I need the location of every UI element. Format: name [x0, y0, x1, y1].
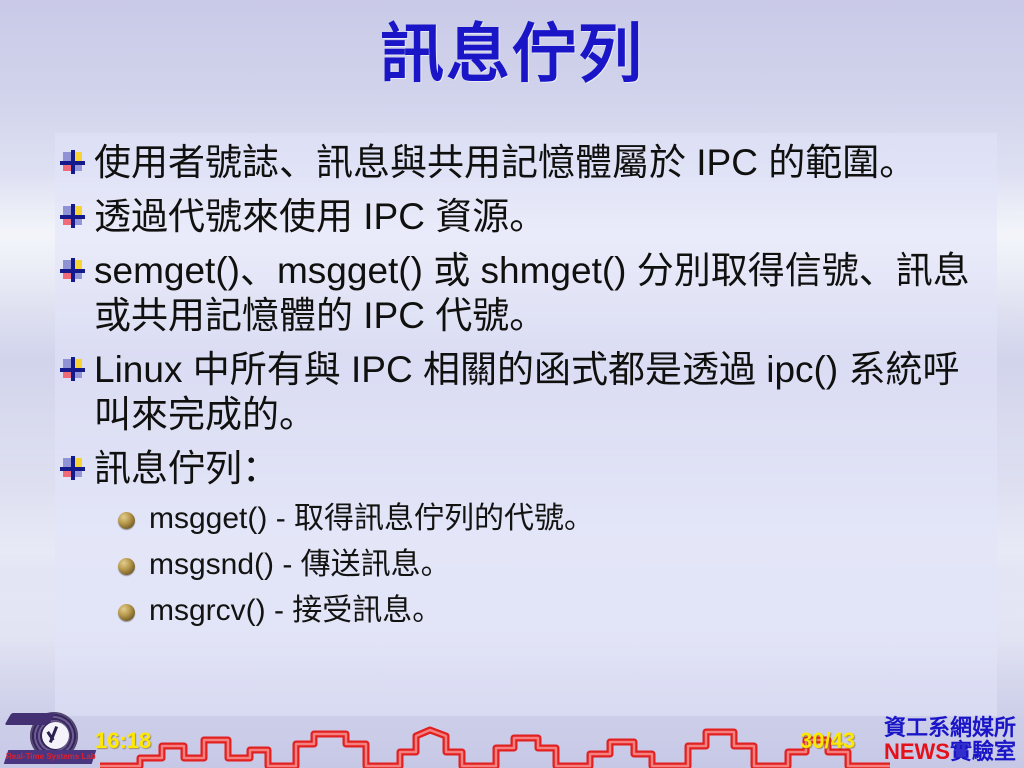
logo-text: Real-Time Systems Lab	[6, 750, 94, 764]
sub-bullet-text: msgrcv() - 接受訊息。	[149, 592, 442, 630]
list-item: msgget() - 取得訊息佇列的代號。	[118, 500, 1002, 538]
page-title: 訊息佇列	[0, 8, 1024, 100]
lab-news-label: NEWS	[884, 739, 950, 764]
four-quadrant-square-icon	[62, 152, 83, 173]
gold-sphere-icon	[118, 558, 135, 575]
slide-footer: Real-Time Systems Lab 16:18 30/43 資工系網媒所…	[0, 708, 1024, 768]
four-quadrant-square-icon	[62, 260, 83, 281]
sub-bullet-text: msgget() - 取得訊息佇列的代號。	[149, 500, 594, 538]
list-item: Linux 中所有與 IPC 相關的函式都是透過 ipc() 系統呼叫來完成的。	[62, 347, 1002, 437]
lab-branding: 資工系網媒所 NEWS實驗室	[884, 716, 1016, 764]
list-item: msgsnd() - 傳送訊息。	[118, 546, 1002, 584]
list-item: 訊息佇列：	[62, 446, 1002, 491]
list-item: 使用者號誌、訊息與共用記憶體屬於 IPC 的範圍。	[62, 140, 1002, 185]
red-skyline-graphic	[100, 724, 890, 768]
lab-suffix-label: 實驗室	[950, 739, 1016, 764]
lab-dept-label: 資工系網媒所	[884, 716, 1016, 740]
sub-bullet-list: msgget() - 取得訊息佇列的代號。 msgsnd() - 傳送訊息。 m…	[118, 500, 1002, 630]
sub-bullet-text: msgsnd() - 傳送訊息。	[149, 546, 451, 584]
four-quadrant-square-icon	[62, 359, 83, 380]
page-number-label: 30/43	[800, 728, 855, 754]
bullet-text: semget()、msgget() 或 shmget() 分別取得信號、訊息或共…	[94, 248, 974, 338]
bullet-text: 透過代號來使用 IPC 資源。	[94, 194, 546, 239]
four-quadrant-square-icon	[62, 206, 83, 227]
clock-disc-logo-icon: Real-Time Systems Lab	[6, 710, 98, 766]
bullet-text: 使用者號誌、訊息與共用記憶體屬於 IPC 的範圍。	[94, 140, 916, 185]
bullet-list: 使用者號誌、訊息與共用記憶體屬於 IPC 的範圍。 透過代號來使用 IPC 資源…	[62, 140, 1002, 638]
bullet-text: 訊息佇列：	[94, 446, 279, 491]
list-item: semget()、msgget() 或 shmget() 分別取得信號、訊息或共…	[62, 248, 1002, 338]
list-item: 透過代號來使用 IPC 資源。	[62, 194, 1002, 239]
four-quadrant-square-icon	[62, 458, 83, 479]
gold-sphere-icon	[118, 604, 135, 621]
bullet-text: Linux 中所有與 IPC 相關的函式都是透過 ipc() 系統呼叫來完成的。	[94, 347, 974, 437]
gold-sphere-icon	[118, 512, 135, 529]
list-item: msgrcv() - 接受訊息。	[118, 592, 1002, 630]
presentation-slide: 訊息佇列 使用者號誌、訊息與共用記憶體屬於 IPC 的範圍。 透過代號來使用 I…	[0, 0, 1024, 768]
